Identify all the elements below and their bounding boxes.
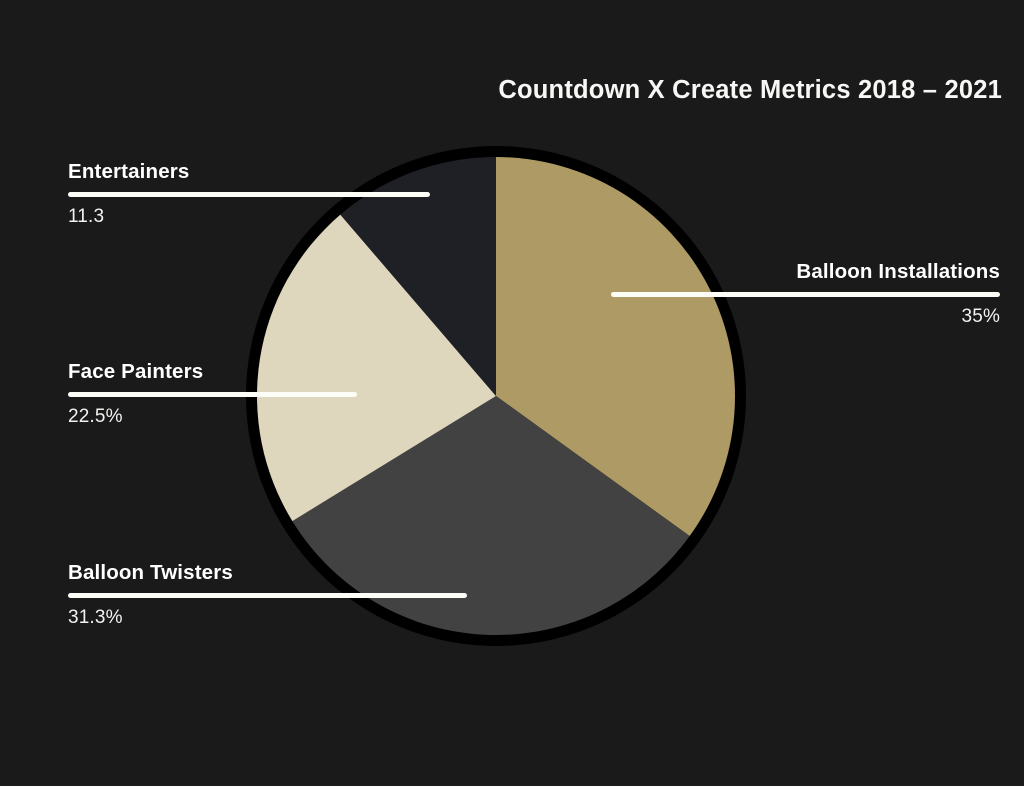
leader-line-balloon-installations — [611, 292, 1000, 297]
chart-canvas: Countdown X Create Metrics 2018 – 2021 E… — [0, 0, 1024, 786]
callout-balloon-twisters: Balloon Twisters 31.3% — [68, 563, 467, 627]
leader-line-face-painters — [68, 392, 357, 397]
callout-balloon-installations: Balloon Installations 35% — [611, 262, 1000, 326]
callout-balloon-installations-label: Balloon Installations — [611, 262, 1000, 283]
callout-balloon-twisters-label: Balloon Twisters — [68, 563, 467, 584]
callout-balloon-installations-value: 35% — [611, 307, 1000, 326]
callout-face-painters-value: 22.5% — [68, 407, 357, 426]
callout-face-painters: Face Painters 22.5% — [68, 362, 357, 426]
callout-face-painters-label: Face Painters — [68, 362, 357, 383]
callout-entertainers: Entertainers 11.3 — [68, 162, 430, 226]
leader-line-balloon-twisters — [68, 593, 467, 598]
leader-line-entertainers — [68, 192, 430, 197]
callout-balloon-twisters-value: 31.3% — [68, 608, 467, 627]
callout-entertainers-value: 11.3 — [68, 207, 430, 226]
page-title: Countdown X Create Metrics 2018 – 2021 — [498, 76, 1002, 105]
callout-entertainers-label: Entertainers — [68, 162, 430, 183]
